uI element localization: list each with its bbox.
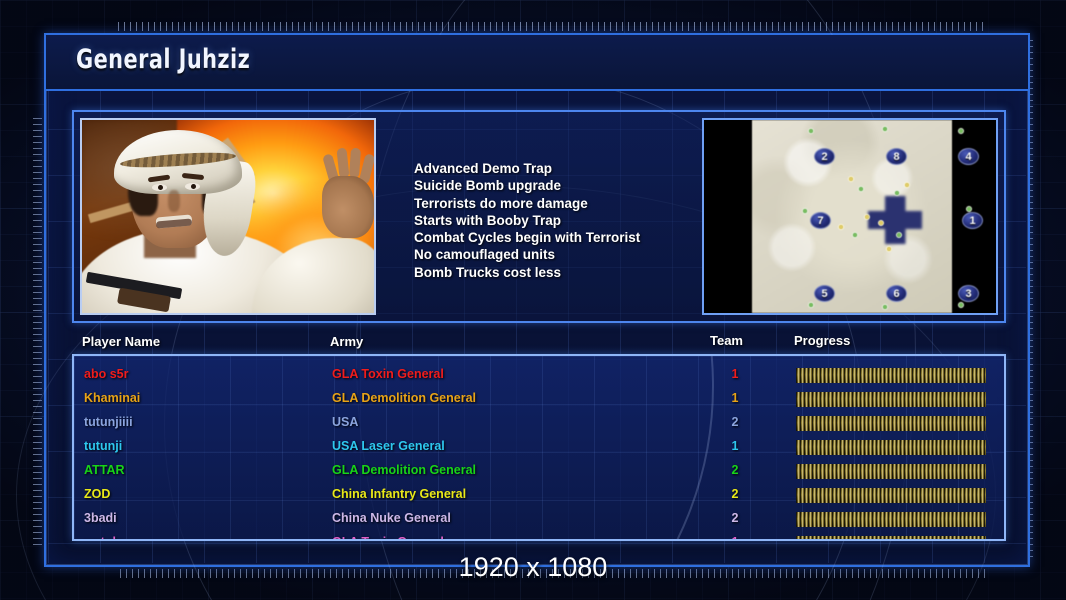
general-info-panel: Advanced Demo TrapSuicide Bomb upgradeTe… xyxy=(72,110,1006,323)
table-row[interactable]: ZODChina Infantry General2 xyxy=(74,484,1004,508)
player-table: abo s5rGLA Toxin General1KhaminaiGLA Dem… xyxy=(72,354,1006,541)
player-name: abo s5r xyxy=(84,367,128,381)
map-start-position-8[interactable]: 8 xyxy=(886,148,907,165)
table-row[interactable]: tutunjiiiiUSA2 xyxy=(74,412,1004,436)
map-resource-icon xyxy=(958,128,964,134)
table-row[interactable]: ATTARGLA Demolition General2 xyxy=(74,460,1004,484)
table-row[interactable]: KhaminaiGLA Demolition General1 xyxy=(74,388,1004,412)
ability-item: Combat Cycles begin with Terrorist xyxy=(414,229,734,246)
map-start-position-7[interactable]: 7 xyxy=(810,212,831,229)
player-name: ZOD xyxy=(84,487,110,501)
map-resource-icon xyxy=(802,208,808,214)
progress-bar-fill xyxy=(796,512,986,527)
table-row[interactable]: 3badiChina Nuke General2 xyxy=(74,508,1004,532)
player-army: China Nuke General xyxy=(332,511,451,525)
progress-bar-fill xyxy=(796,440,986,455)
progress-bar xyxy=(796,368,986,383)
ability-item: Advanced Demo Trap xyxy=(414,160,734,177)
map-start-position-4[interactable]: 4 xyxy=(958,148,979,165)
progress-bar xyxy=(796,536,986,541)
map-resource-icon xyxy=(894,190,900,196)
map-resource-icon xyxy=(958,302,964,308)
map-resource-icon xyxy=(904,182,910,188)
player-army: GLA Toxin General xyxy=(332,367,444,381)
column-header-team: Team xyxy=(710,333,743,348)
map-resource-icon xyxy=(808,302,814,308)
map-start-position-3[interactable]: 3 xyxy=(958,285,979,302)
ability-item: Bomb Trucks cost less xyxy=(414,264,734,281)
player-team: 1 xyxy=(722,367,748,381)
column-header-progress: Progress xyxy=(794,333,850,348)
table-row[interactable]: tutunjiUSA Laser General1 xyxy=(74,436,1004,460)
general-abilities-list: Advanced Demo TrapSuicide Bomb upgradeTe… xyxy=(414,160,734,281)
progress-bar-fill xyxy=(796,488,986,503)
progress-bar-fill xyxy=(796,416,986,431)
window-titlebar: General Juhziz xyxy=(46,35,1028,91)
ability-item: Terrorists do more damage xyxy=(414,195,734,212)
portrait-artwork xyxy=(82,120,374,313)
player-team: 2 xyxy=(722,415,748,429)
player-army: China Infantry General xyxy=(332,487,466,501)
map-preview[interactable]: 28471563 xyxy=(702,118,998,315)
player-team: 2 xyxy=(722,463,748,477)
map-resource-icon xyxy=(848,176,854,182)
player-army: USA Laser General xyxy=(332,439,445,453)
resolution-label: 1920 x 1080 xyxy=(0,552,1066,583)
general-portrait xyxy=(80,118,376,315)
progress-bar-fill xyxy=(796,368,986,383)
progress-bar-fill xyxy=(796,536,986,541)
player-team: 2 xyxy=(722,511,748,525)
ability-item: No camouflaged units xyxy=(414,246,734,263)
table-row[interactable]: abo s5rGLA Toxin General1 xyxy=(74,364,1004,388)
player-name: tutunji xyxy=(84,439,122,453)
column-header-player-name: Player Name xyxy=(82,334,160,349)
player-name: 3badi xyxy=(84,511,117,525)
progress-bar xyxy=(796,392,986,407)
map-start-position-6[interactable]: 6 xyxy=(886,285,907,302)
map-resource-icon xyxy=(886,246,892,252)
progress-bar xyxy=(796,488,986,503)
player-team: 1 xyxy=(722,535,748,541)
player-team: 2 xyxy=(722,487,748,501)
progress-bar xyxy=(796,416,986,431)
map-start-position-2[interactable]: 2 xyxy=(814,148,835,165)
map-resource-icon xyxy=(896,232,902,238)
progress-bar-fill xyxy=(796,464,986,479)
map-resource-icon xyxy=(808,128,814,134)
progress-bar xyxy=(796,440,986,455)
player-army: USA xyxy=(332,415,358,429)
map-resource-icon xyxy=(852,232,858,238)
player-name: tutunjiiii xyxy=(84,415,133,429)
ability-item: Starts with Booby Trap xyxy=(414,212,734,229)
player-army: GLA Demolition General xyxy=(332,463,476,477)
map-resource-icon xyxy=(838,224,844,230)
map-start-position-1[interactable]: 1 xyxy=(962,212,983,229)
map-resource-icon xyxy=(882,126,888,132)
ability-item: Suicide Bomb upgrade xyxy=(414,177,734,194)
map-resource-icon xyxy=(858,186,864,192)
player-name: Khaminai xyxy=(84,391,140,405)
player-army: GLA Toxin General xyxy=(332,535,444,541)
map-resource-icon xyxy=(864,214,870,220)
page-title: General Juhziz xyxy=(76,44,250,75)
map-terrain: 28471563 xyxy=(752,120,952,313)
map-start-position-5[interactable]: 5 xyxy=(814,285,835,302)
player-team: 1 xyxy=(722,391,748,405)
player-name: watola xyxy=(84,535,123,541)
general-info-window: General Juhziz xyxy=(44,33,1030,567)
player-table-header: Player Name Army Team Progress xyxy=(72,330,1006,354)
player-army: GLA Demolition General xyxy=(332,391,476,405)
progress-bar xyxy=(796,512,986,527)
player-team: 1 xyxy=(722,439,748,453)
map-resource-icon xyxy=(882,304,888,310)
progress-bar-fill xyxy=(796,392,986,407)
map-resource-icon xyxy=(878,220,884,226)
column-header-army: Army xyxy=(330,334,363,349)
player-name: ATTAR xyxy=(84,463,125,477)
map-center-feature xyxy=(868,196,922,244)
progress-bar xyxy=(796,464,986,479)
table-row[interactable]: watolaGLA Toxin General1 xyxy=(74,532,1004,541)
